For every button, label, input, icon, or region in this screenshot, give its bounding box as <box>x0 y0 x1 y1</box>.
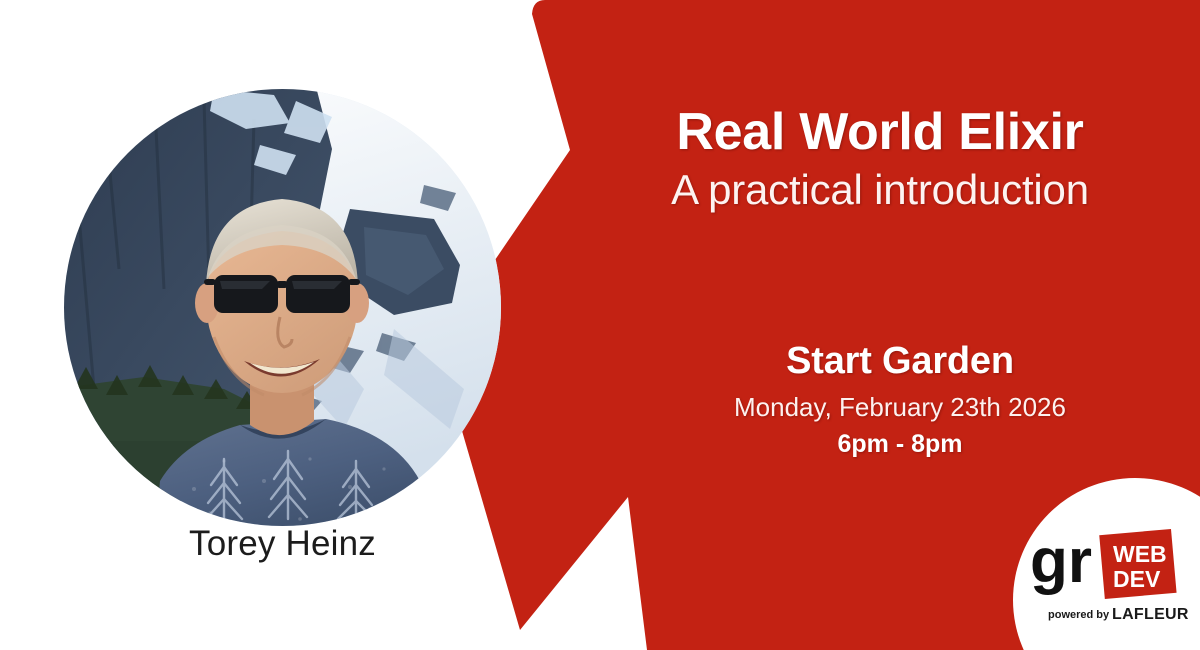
gr-web-dev-logo: gr WEB DEV powered by LAFLEUR <box>1028 520 1198 630</box>
speaker-photo <box>64 89 501 526</box>
speaker-name: Torey Heinz <box>0 524 565 564</box>
logo-web-text: WEB <box>1113 541 1167 567</box>
event-time: 6pm - 8pm <box>640 430 1160 459</box>
logo-lafleur-text: LAFLEUR <box>1112 606 1189 623</box>
logo-powered-by-text: powered by <box>1048 609 1110 621</box>
event-banner: Torey Heinz Real World Elixir A practica… <box>0 0 1200 650</box>
title-block: Real World Elixir A practical introducti… <box>600 104 1160 213</box>
event-venue: Start Garden <box>640 340 1160 383</box>
logo-gr-text: gr <box>1030 527 1092 596</box>
logo-dev-text: DEV <box>1113 566 1161 592</box>
event-details-block: Start Garden Monday, February 23th 2026 … <box>640 340 1160 459</box>
event-title: Real World Elixir <box>600 104 1160 160</box>
event-subtitle: A practical introduction <box>600 166 1160 213</box>
event-date: Monday, February 23th 2026 <box>640 392 1160 423</box>
